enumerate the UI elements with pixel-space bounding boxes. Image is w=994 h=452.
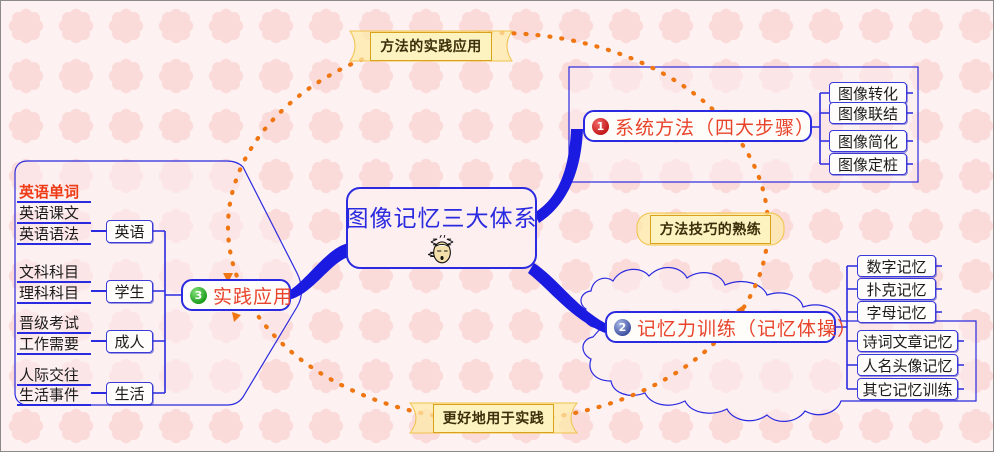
- branch-2-leaf-1[interactable]: 扑克记忆: [857, 278, 936, 300]
- branch-3-sub-1[interactable]: 学生: [106, 280, 153, 303]
- leaf-label: 文科科目: [19, 261, 79, 282]
- sub-label: 英语: [114, 221, 144, 242]
- branch-2-number-badge: 2: [614, 319, 631, 336]
- leaf-label: 图像联结: [838, 103, 898, 124]
- leaf-label: 英语语法: [19, 223, 79, 244]
- branch-3-sub-2-leaf-1[interactable]: 工作需要: [17, 333, 97, 354]
- branch-1-leaf-0[interactable]: 图像转化: [829, 82, 907, 104]
- leaf-label: 图像简化: [838, 131, 898, 152]
- branch-1-label: 系统方法（四大步骤）: [615, 113, 815, 140]
- leaf-label: 英语单词: [19, 181, 79, 202]
- branch-3-node[interactable]: 3 实践应用: [181, 279, 291, 311]
- leaf-label: 理科科目: [19, 282, 79, 303]
- leaf-label: 字母记忆: [866, 302, 926, 323]
- leaf-label: 扑克记忆: [866, 279, 926, 300]
- leaf-label: 生活事件: [19, 384, 79, 405]
- callout-middle[interactable]: 方法技巧的熟练: [634, 210, 787, 248]
- leaf-label: 英语课文: [19, 202, 79, 223]
- branch-3-sub-2-leaf-0[interactable]: 晋级考试: [17, 312, 97, 333]
- branch-3-sub-1-leaf-0[interactable]: 文科科目: [17, 261, 97, 282]
- branch-3-sub-0-leaf-0[interactable]: 英语单词: [17, 181, 97, 202]
- branch-3-sub-3-leaf-0[interactable]: 人际交往: [17, 364, 97, 385]
- leaf-label: 诗词文章记忆: [862, 331, 952, 352]
- leaf-label: 工作需要: [19, 333, 79, 354]
- sub-label: 成人: [114, 331, 144, 352]
- branch-3-sub-3-leaf-1[interactable]: 生活事件: [17, 384, 97, 405]
- leaf-label: 人名头像记忆: [862, 355, 952, 376]
- branch-1-node[interactable]: 1 系统方法（四大步骤）: [583, 110, 812, 142]
- leaf-label: 数字记忆: [866, 256, 926, 277]
- sub-label: 生活: [114, 383, 144, 404]
- branch-3-sub-0-leaf-1[interactable]: 英语课文: [17, 202, 97, 223]
- branch-1-leaf-2[interactable]: 图像简化: [829, 130, 907, 152]
- callout-middle-label: 方法技巧的熟练: [650, 215, 772, 244]
- branch-3-number-badge: 3: [190, 287, 207, 304]
- mindmap-canvas: 图像记忆三大体系 1 系统方法（四大步骤） 图像转化 图像联结 图像简化 图像定…: [0, 0, 994, 452]
- branch-3-sub-3[interactable]: 生活: [106, 382, 153, 405]
- thinking-face-icon: [408, 235, 476, 267]
- central-topic-node[interactable]: 图像记忆三大体系: [346, 187, 537, 269]
- branch-1-number-badge: 1: [592, 118, 609, 135]
- branch-2-label: 记忆力训练（记忆体操）: [637, 314, 857, 341]
- branch-1-leaf-3[interactable]: 图像定桩: [829, 153, 907, 175]
- branch-3-sub-0-leaf-2[interactable]: 英语语法: [17, 223, 97, 244]
- callout-bottom-label: 更好地用于实践: [433, 404, 555, 433]
- branch-2-leaf-4[interactable]: 人名头像记忆: [857, 354, 958, 376]
- branch-2-leaf-3[interactable]: 诗词文章记忆: [857, 330, 958, 352]
- leaf-label: 图像转化: [838, 83, 898, 104]
- branch-2-node[interactable]: 2 记忆力训练（记忆体操）: [605, 311, 836, 343]
- branch-3-label: 实践应用: [213, 282, 293, 309]
- branch-2-leaf-0[interactable]: 数字记忆: [857, 255, 936, 277]
- branch-3-sub-2[interactable]: 成人: [106, 330, 153, 353]
- leaf-label: 其它记忆训练: [862, 379, 952, 400]
- branch-3-sub-1-leaf-1[interactable]: 理科科目: [17, 282, 97, 303]
- callout-top[interactable]: 方法的实践应用: [346, 27, 516, 65]
- sub-label: 学生: [114, 281, 144, 302]
- branch-2-leaf-5[interactable]: 其它记忆训练: [857, 378, 958, 400]
- leaf-label: 图像定桩: [838, 154, 898, 175]
- branch-3-sub-0[interactable]: 英语: [106, 220, 153, 243]
- callout-bottom[interactable]: 更好地用于实践: [406, 399, 581, 437]
- central-topic-label: 图像记忆三大体系: [346, 199, 538, 233]
- branch-1-leaf-1[interactable]: 图像联结: [829, 102, 907, 124]
- branch-2-leaf-2[interactable]: 字母记忆: [857, 301, 936, 323]
- callout-top-label: 方法的实践应用: [370, 32, 492, 61]
- leaf-label: 晋级考试: [19, 312, 79, 333]
- leaf-label: 人际交往: [19, 364, 79, 385]
